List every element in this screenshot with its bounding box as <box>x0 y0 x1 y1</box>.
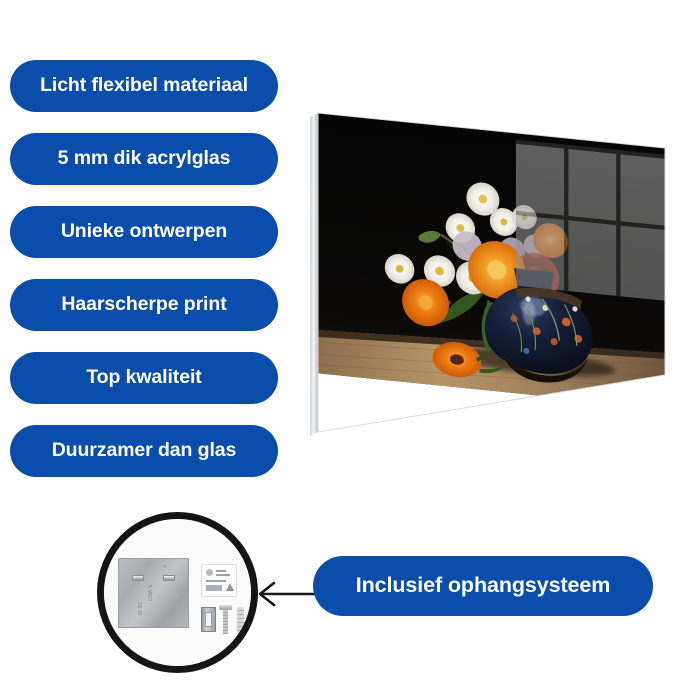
acrylic-print-graphic <box>300 95 680 450</box>
artwork-window-reflection <box>516 140 672 302</box>
leaflet-warning-triangle-icon <box>226 583 234 591</box>
acrylic-edge-thickness <box>310 113 318 436</box>
feature-badge-unieke-ontwerpen[interactable]: Unieke ontwerpen <box>10 206 278 258</box>
screw-icon <box>222 605 229 634</box>
leaflet-mark <box>216 574 230 576</box>
feature-badge-label: Haarscherpe print <box>61 295 226 315</box>
mounting-plate-icon: 5 W03 IS SI x <box>118 558 189 628</box>
leaflet-mark <box>216 570 226 572</box>
leaflet-mark <box>206 585 222 591</box>
wall-plug-icon <box>237 607 244 634</box>
feature-badge-label: 5 mm dik acrylglas <box>58 149 231 169</box>
acrylic-print-mockup <box>300 95 680 450</box>
plate-marking: 5 W03 <box>146 585 152 601</box>
screw-shaft <box>223 610 228 634</box>
feature-badge-top-kwaliteit[interactable]: Top kwaliteit <box>10 352 278 404</box>
callout-badge-label: Inclusief ophangsysteem <box>356 575 611 597</box>
leaflet-mark <box>206 569 213 576</box>
plate-marking: x <box>161 565 167 568</box>
plate-slot-left-icon <box>132 575 144 581</box>
callout-arrow-icon <box>252 578 322 610</box>
plate-marking: IS SI <box>136 603 142 616</box>
feature-badge-label: Duurzamer dan glas <box>52 441 237 461</box>
feature-badge-label: Licht flexibel materiaal <box>40 76 248 96</box>
callout-badge-inclusief-ophangsysteem[interactable]: Inclusief ophangsysteem <box>313 556 653 616</box>
feature-badge-5-mm-dik-acrylglas[interactable]: 5 mm dik acrylglas <box>10 133 278 185</box>
feature-badge-list: Licht flexibel materiaal 5 mm dik acrylg… <box>10 60 278 498</box>
spacer-icon <box>252 622 258 633</box>
bracket-icon <box>201 607 216 632</box>
instruction-leaflet-icon <box>201 564 237 597</box>
feature-badge-duurzamer-dan-glas[interactable]: Duurzamer dan glas <box>10 425 278 477</box>
hardware-circle-inset: 5 W03 IS SI x <box>97 512 258 673</box>
printed-artwork <box>318 113 672 409</box>
feature-badge-licht-flexibel-materiaal[interactable]: Licht flexibel materiaal <box>10 60 278 112</box>
feature-badge-label: Top kwaliteit <box>86 368 201 388</box>
plate-slot-right-icon <box>163 575 175 581</box>
feature-badge-label: Unieke ontwerpen <box>61 222 227 242</box>
feature-badge-haarscherpe-print[interactable]: Haarscherpe print <box>10 279 278 331</box>
hardware-photo: 5 W03 IS SI x <box>104 519 251 666</box>
leaflet-mark <box>206 580 226 582</box>
